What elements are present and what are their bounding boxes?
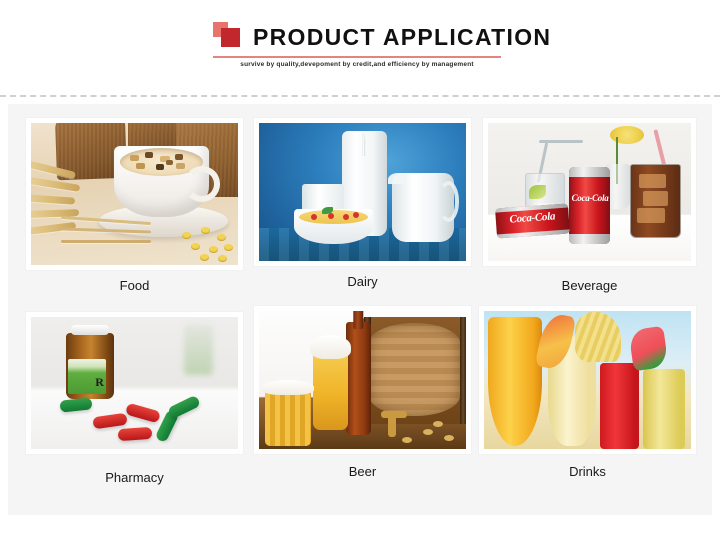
card-label-drinks: Drinks xyxy=(479,464,696,479)
pharmacy-image: R xyxy=(31,317,238,449)
card-dairy[interactable] xyxy=(254,118,471,266)
card-label-food: Food xyxy=(26,278,243,293)
card-label-beverage: Beverage xyxy=(483,278,696,293)
card-pharmacy[interactable]: R xyxy=(26,312,243,454)
coca-cola-logo-text: Coca-Cola xyxy=(572,193,608,203)
card-drinks[interactable] xyxy=(479,306,696,454)
coca-cola-can-lying: Coca-Cola xyxy=(495,203,570,238)
product-application-panel: Food xyxy=(8,104,712,515)
page-subtitle: survive by quality,devepoment by credit,… xyxy=(213,61,501,68)
beer-image xyxy=(259,311,466,449)
card-label-beer: Beer xyxy=(254,464,471,479)
card-beer[interactable] xyxy=(254,306,471,454)
beverage-image: Coca-Cola Coca-Cola xyxy=(488,123,691,261)
coca-cola-logo-text-2: Coca-Cola xyxy=(500,210,565,226)
dotted-divider xyxy=(0,95,720,97)
card-label-dairy: Dairy xyxy=(254,274,471,289)
card-label-pharmacy: Pharmacy xyxy=(26,470,243,485)
drinks-image xyxy=(484,311,691,449)
coca-cola-can-upright: Coca-Cola xyxy=(569,167,610,244)
title-row: PRODUCTAPPLICATION xyxy=(213,16,503,50)
card-food[interactable] xyxy=(26,118,243,270)
title-block: PRODUCTAPPLICATION survive by quality,de… xyxy=(213,16,503,50)
logo-square-dark xyxy=(221,28,240,47)
title-word-product: PRODUCT xyxy=(253,24,376,50)
two-red-squares-icon xyxy=(213,20,247,50)
page-header: PRODUCTAPPLICATION survive by quality,de… xyxy=(0,0,720,96)
page-title: PRODUCTAPPLICATION xyxy=(253,24,551,50)
title-word-application: APPLICATION xyxy=(383,24,551,50)
card-beverage[interactable]: Coca-Cola Coca-Cola xyxy=(483,118,696,266)
title-underline xyxy=(213,56,501,58)
dairy-image xyxy=(259,123,466,261)
pharmacy-label-letter: R xyxy=(95,375,104,390)
food-image xyxy=(31,123,238,265)
